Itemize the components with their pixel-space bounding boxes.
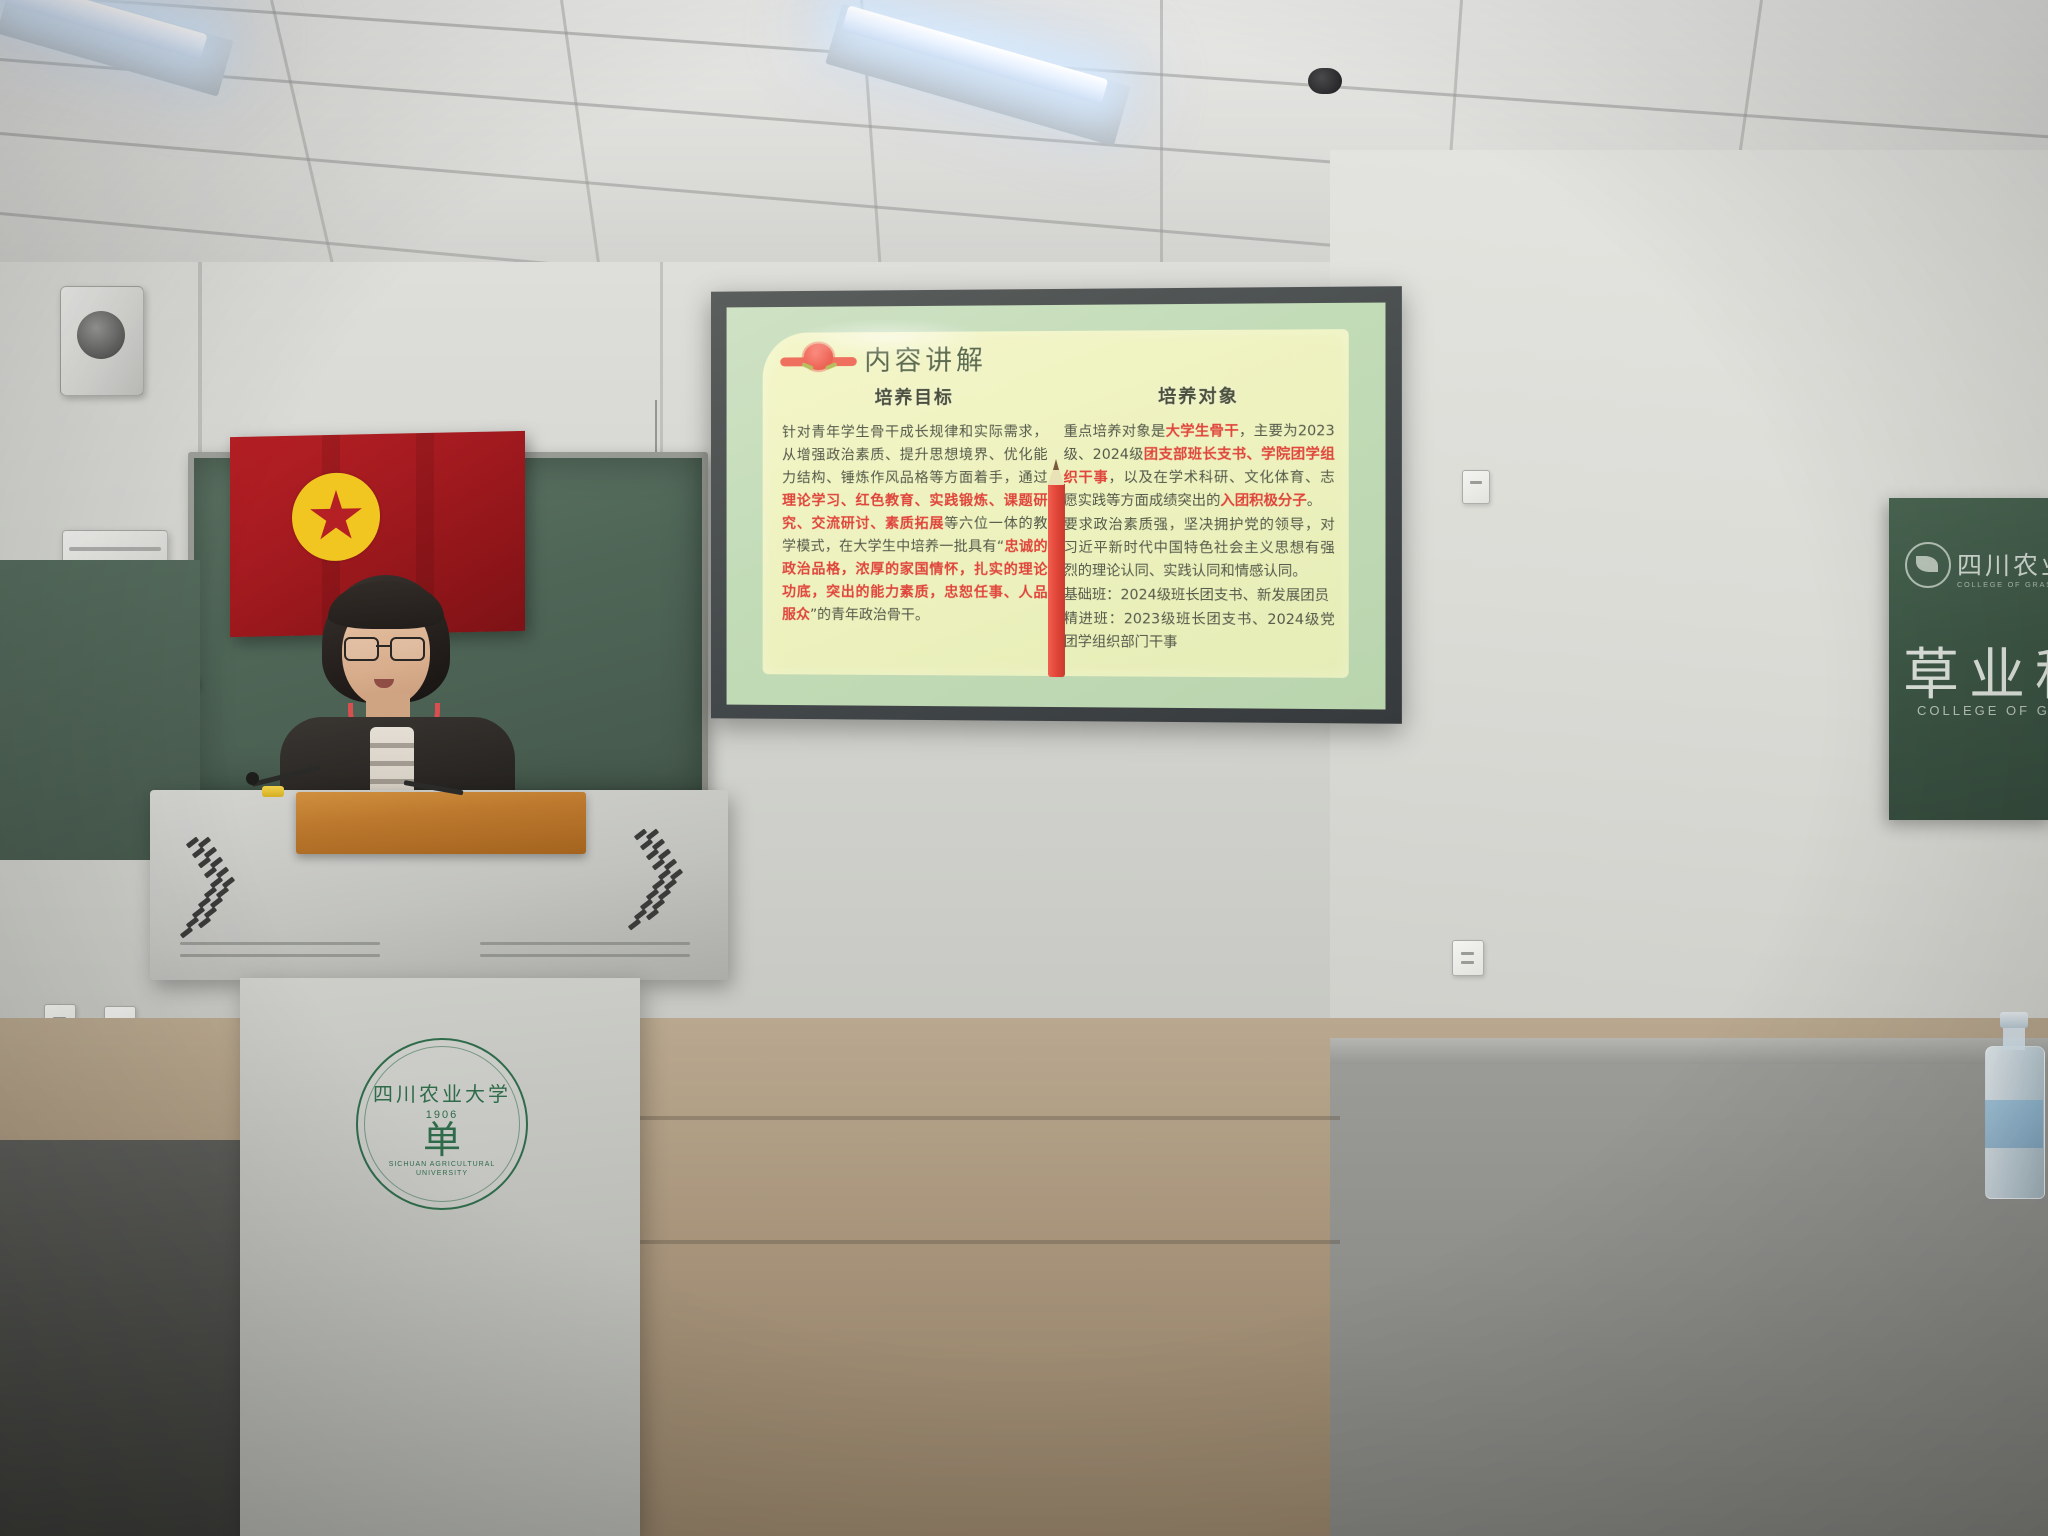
university-seal: 四川农业大学 1906 单 SICHUAN AGRICULTURAL UNIVE… xyxy=(356,1038,528,1210)
body-text: 精进班：2023级班长团支书、2024级党团学组织部门干事 xyxy=(1064,611,1335,651)
slide-paragraph: 针对青年学生骨干成长规律和实际需求，从增强政治素质、提升思想境界、优化能力结构、… xyxy=(782,421,1047,628)
body-text: ”的青年政治骨干。 xyxy=(810,607,929,623)
red-pencil-icon xyxy=(1048,459,1065,677)
banner-en-line: COLLEGE OF GRASSLAND SCIENCE AND TECHNOL… xyxy=(1957,580,2048,589)
water-bottle[interactable] xyxy=(1985,1012,2043,1197)
slide-paragraph: 重点培养对象是大学生骨干，主要为2023级、2024级团支部班长支书、学院团学组… xyxy=(1064,420,1335,513)
floor-seam-1 xyxy=(640,1116,1340,1120)
slide-card: 内容讲解 培养目标 针对青年学生骨干成长规律和实际需求，从增强政治素质、提升思想… xyxy=(763,329,1349,679)
body-text: 。 xyxy=(1307,492,1321,508)
glasses-right-lens xyxy=(390,637,425,661)
body-text: 针对青年学生骨干成长规律和实际需求，从增强政治素质、提升思想境界、优化能力结构、… xyxy=(782,424,1047,486)
slide-header: 内容讲解 xyxy=(780,339,987,379)
college-banner: 四川农业大学草业科 COLLEGE OF GRASSLAND SCIENCE A… xyxy=(1889,498,2048,820)
floor-right-grey xyxy=(1330,1056,2048,1536)
podium-vent-left xyxy=(176,838,240,958)
podium-vent-right xyxy=(624,830,688,950)
slide-paragraph: 精进班：2023级班长团支书、2024级党团学组织部门干事 xyxy=(1064,608,1335,656)
banner-cn-line: 四川农业大学草业科 xyxy=(1957,546,2048,582)
column-heading-targets: 培养对象 xyxy=(1064,381,1335,408)
floor-seam-2 xyxy=(640,1240,1340,1244)
slide-paragraph: 基础班：2024级班长团支书、新发展团员 xyxy=(1064,584,1335,608)
seal-inner-ring xyxy=(364,1046,520,1202)
podium-wooden-ledge xyxy=(296,792,586,854)
banner-big-cn: 草业科 xyxy=(1903,630,2048,711)
flag-emblem-icon xyxy=(292,472,380,562)
body-text: 要求政治素质强，坚决拥护党的领导，对习近平新时代中国特色社会主义思想有强烈的理论… xyxy=(1064,517,1335,580)
body-text: 基础班：2024级班长团支书、新发展团员 xyxy=(1064,587,1329,604)
slide-column-goals: 培养目标 针对青年学生骨干成长规律和实际需求，从增强政治素质、提升思想境界、优化… xyxy=(782,383,1047,666)
column-body-goals: 针对青年学生骨干成长规律和实际需求，从增强政治素质、提升思想境界、优化能力结构、… xyxy=(782,421,1047,628)
wall-socket-far-right[interactable] xyxy=(1452,940,1484,976)
projector-screen-frame: 内容讲解 培养目标 针对青年学生骨干成长规律和实际需求，从增强政治素质、提升思想… xyxy=(711,286,1402,724)
slide-columns: 培养目标 针对青年学生骨干成长规律和实际需求，从增强政治素质、提升思想境界、优化… xyxy=(782,381,1335,667)
bottle-cap[interactable] xyxy=(2000,1012,2028,1028)
body-text: 重点培养对象是 xyxy=(1064,423,1166,439)
wall-speaker-top xyxy=(60,286,144,396)
glasses-left-lens xyxy=(344,637,379,661)
microphone-head-icon[interactable] xyxy=(246,772,259,785)
glasses-bridge xyxy=(376,645,390,647)
presenter-fringe xyxy=(328,581,444,629)
red-flower-ribbon-icon xyxy=(780,342,857,376)
column-heading-goals: 培养目标 xyxy=(782,383,1047,410)
college-logo-icon xyxy=(1905,542,1951,588)
smoke-detector-icon xyxy=(1308,68,1342,94)
presenter xyxy=(280,575,515,815)
slide-title: 内容讲解 xyxy=(864,339,987,378)
classroom-scene: 内容讲解 培养目标 针对青年学生骨干成长规律和实际需求，从增强政治素质、提升思想… xyxy=(0,0,2048,1536)
bottle-label xyxy=(1985,1100,2043,1148)
banner-big-en: COLLEGE OF GRASSLA xyxy=(1917,703,2048,718)
wall-switch-right-upper[interactable] xyxy=(1462,470,1490,504)
slide-paragraph: 要求政治素质强，坚决拥护党的领导，对习近平新时代中国特色社会主义思想有强烈的理论… xyxy=(1064,514,1335,584)
slide-column-targets: 培养对象 重点培养对象是大学生骨干，主要为2023级、2024级团支部班长支书、… xyxy=(1064,381,1335,667)
highlighted-text: 入团积极分子 xyxy=(1220,492,1306,508)
projector-screen[interactable]: 内容讲解 培养目标 针对青年学生骨干成长规律和实际需求，从增强政治素质、提升思想… xyxy=(727,303,1386,710)
baseboard-right xyxy=(1330,1038,2048,1064)
column-body-targets: 重点培养对象是大学生骨干，主要为2023级、2024级团支部班长支书、学院团学组… xyxy=(1064,420,1335,655)
highlighted-text: 大学生骨干 xyxy=(1166,423,1239,439)
yellow-clip[interactable] xyxy=(262,786,284,797)
